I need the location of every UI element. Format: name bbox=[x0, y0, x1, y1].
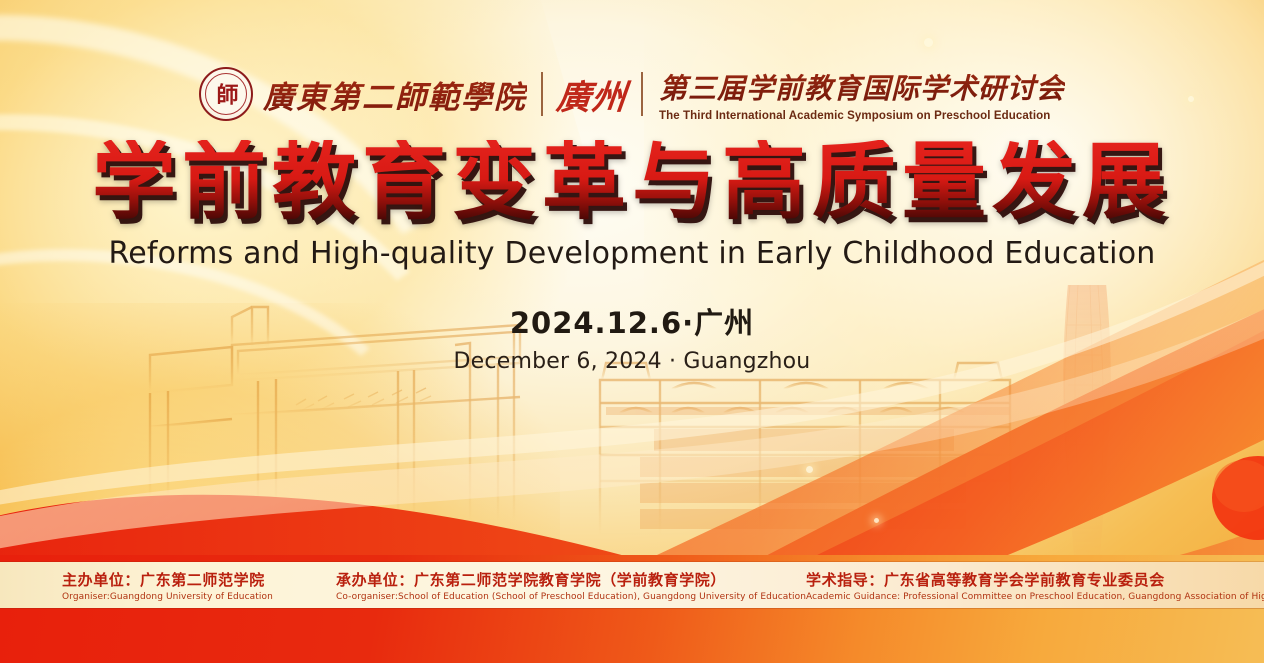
organiser-label-en: Organiser:Guangdong University of Educat… bbox=[62, 592, 273, 602]
header-divider-2 bbox=[641, 72, 643, 116]
light-particle bbox=[924, 38, 933, 47]
date-location-cn: 2024.12.6·广州 bbox=[0, 300, 1264, 342]
date-location-block: 2024.12.6·广州 December 6, 2024 · Guangzho… bbox=[0, 300, 1264, 374]
light-particle bbox=[874, 518, 879, 523]
light-particle bbox=[806, 466, 813, 473]
footer-column-academic-guidance: 学术指导：广东省高等教育学会学前教育专业委员会 Academic Guidanc… bbox=[806, 569, 1264, 602]
symposium-title-block: 第三届学前教育国际学术研讨会 The Third International A… bbox=[659, 67, 1065, 122]
date-location-en: December 6, 2024 · Guangzhou bbox=[0, 349, 1264, 374]
main-title-cn: 学前教育变革与高质量发展 bbox=[0, 140, 1264, 224]
main-title-block: 学前教育变革与高质量发展 Reforms and High-quality De… bbox=[0, 140, 1264, 271]
header-lockup: 師 廣東第二師範學院 廣州 第三届学前教育国际学术研讨会 The Third I… bbox=[0, 58, 1264, 130]
symposium-title-en: The Third International Academic Symposi… bbox=[659, 110, 1050, 122]
co-organiser-label-cn: 承办单位：广东第二师范学院教育学院（学前教育学院） bbox=[336, 569, 806, 590]
university-seal-icon: 師 bbox=[199, 67, 253, 121]
seal-glyph: 師 bbox=[216, 77, 235, 109]
conference-banner: 師 廣東第二師範學院 廣州 第三届学前教育国际学术研讨会 The Third I… bbox=[0, 0, 1264, 663]
footer-column-organiser: 主办单位：广东第二师范学院 Organiser:Guangdong Univer… bbox=[62, 569, 273, 602]
organiser-label-cn: 主办单位：广东第二师范学院 bbox=[62, 569, 273, 590]
university-name-cn: 廣東第二師範學院 bbox=[263, 72, 527, 117]
co-organiser-label-en: Co-organiser:School of Education (School… bbox=[336, 592, 806, 602]
main-title-en: Reforms and High-quality Development in … bbox=[0, 236, 1264, 271]
header-divider-1 bbox=[541, 72, 543, 116]
footer-credits-band: 主办单位：广东第二师范学院 Organiser:Guangdong Univer… bbox=[0, 562, 1264, 608]
symposium-title-cn: 第三届学前教育国际学术研讨会 bbox=[659, 67, 1065, 107]
footer-column-co-organiser: 承办单位：广东第二师范学院教育学院（学前教育学院） Co-organiser:S… bbox=[336, 569, 806, 602]
academic-guidance-label-cn: 学术指导：广东省高等教育学会学前教育专业委员会 bbox=[806, 569, 1264, 590]
academic-guidance-label-en: Academic Guidance: Professional Committe… bbox=[806, 592, 1264, 602]
city-calligraphy: 廣州 bbox=[554, 70, 629, 119]
